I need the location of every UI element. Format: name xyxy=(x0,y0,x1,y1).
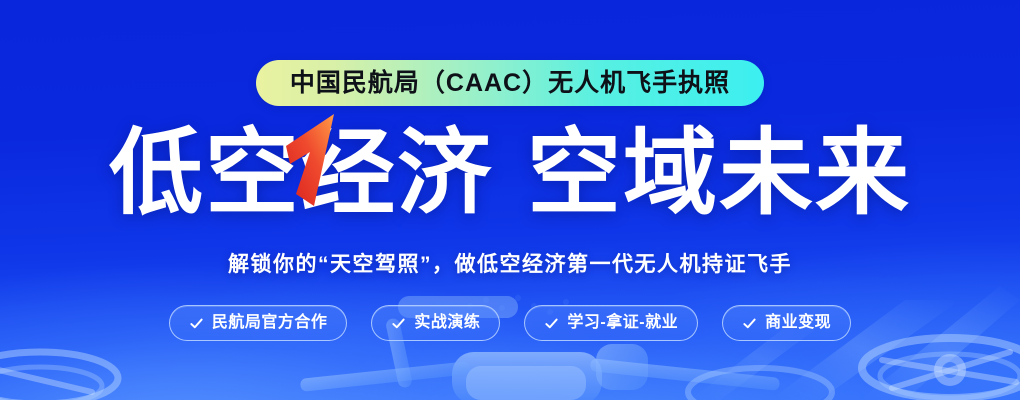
feature-chip[interactable]: 学习-拿证-就业 xyxy=(524,305,698,341)
headline-part-1: 低空经济 xyxy=(109,126,493,220)
subtitle: 解锁你的“天空驾照”，做低空经济第一代无人机持证飞手 xyxy=(0,248,1020,278)
feature-chip-label: 学习-拿证-就业 xyxy=(567,315,678,331)
check-icon xyxy=(544,316,559,331)
feature-chip-label: 实战演练 xyxy=(414,315,480,331)
badge-label: 中国民航局（CAAC）无人机飞手执照 xyxy=(290,71,730,96)
check-icon xyxy=(391,316,406,331)
feature-chip[interactable]: 民航局官方合作 xyxy=(169,305,348,341)
badge-container: 中国民航局（CAAC）无人机飞手执照 xyxy=(0,60,1020,106)
feature-chip-list: 民航局官方合作 实战演练 学习-拿证-就业 商业变现 xyxy=(0,305,1020,341)
headline-part-2: 空域未来 xyxy=(527,126,911,220)
certification-badge: 中国民航局（CAAC）无人机飞手执照 xyxy=(256,60,764,106)
check-icon xyxy=(189,316,204,331)
check-icon xyxy=(742,316,757,331)
feature-chip-label: 商业变现 xyxy=(765,315,831,331)
feature-chip[interactable]: 商业变现 xyxy=(722,305,851,341)
feature-chip-label: 民航局官方合作 xyxy=(212,315,328,331)
feature-chip[interactable]: 实战演练 xyxy=(371,305,500,341)
headline: 低空经济 空域未来 xyxy=(0,126,1020,220)
promo-banner: 中国民航局（CAAC）无人机飞手执照 低空经济 空域未来 解锁你的“天空驾照”，… xyxy=(0,0,1020,400)
